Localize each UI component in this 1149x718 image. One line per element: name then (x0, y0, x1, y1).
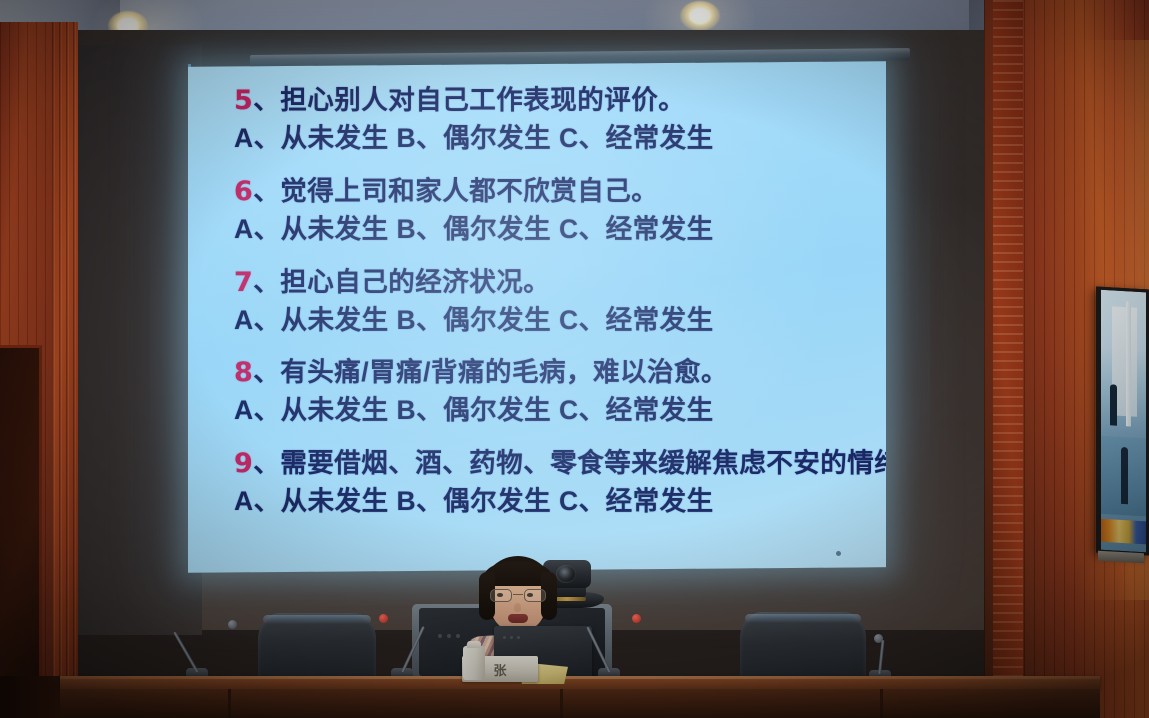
desk-panel-seam-1 (228, 689, 231, 718)
wood-panel-left-trim (52, 22, 78, 718)
answer-options-5: A、从未发生 B、偶尔发生 C、经常发生 (234, 124, 876, 153)
mic-head-center-left (379, 614, 388, 623)
desk-edge-highlight (60, 676, 1100, 679)
desk-left-shadow (0, 676, 62, 718)
front-wall-left-section (72, 45, 202, 635)
eyeglass-lens-right (524, 589, 546, 602)
question-sep-9: 、 (253, 448, 280, 478)
mic-arm-left (173, 631, 199, 672)
question-number-7: 7 (234, 267, 253, 298)
question-sep-8: 、 (253, 357, 280, 387)
question-line-6: 6、觉得上司和家人都不欣赏自己。 (234, 177, 876, 206)
question-block-7: 7、担心自己的经济状况。 A、从未发生 B、偶尔发生 C、经常发生 (234, 268, 876, 335)
nameplate-text: 张 (493, 660, 506, 679)
question-text-8: 有头痛/胃痛/背痛的毛病，难以治愈。 (280, 357, 728, 387)
question-text-5: 担心别人对自己工作表现的评价。 (280, 85, 685, 115)
feed-figure-1 (1110, 384, 1117, 426)
mic-head-left (228, 620, 237, 629)
question-block-9: 9、需要借烟、酒、药物、零食等来缓解焦虑不安的情绪。 A、从未发生 B、偶尔发生… (234, 449, 876, 516)
chair-left (258, 613, 376, 680)
question-number-9: 9 (234, 448, 253, 479)
answer-options-9: A、从未发生 B、偶尔发生 C、经常发生 (234, 487, 876, 516)
question-text-9: 需要借烟、酒、药物、零食等来缓解焦虑不安的情绪。 (280, 448, 886, 478)
question-block-6: 6、觉得上司和家人都不欣赏自己。 A、从未发生 B、偶尔发生 C、经常发生 (234, 177, 876, 244)
mic-head-center-right (632, 614, 641, 623)
projection-screen: 5、担心别人对自己工作表现的评价。 A、从未发生 B、偶尔发生 C、经常发生 6… (188, 61, 886, 572)
podium-desk-front (60, 689, 1100, 718)
feed-figure-2 (1121, 447, 1128, 505)
question-block-5: 5、担心别人对自己工作表现的评价。 A、从未发生 B、偶尔发生 C、经常发生 (234, 86, 876, 153)
eyeglass-lens-left (490, 589, 512, 602)
desk-panel-seam-3 (880, 689, 883, 718)
question-line-5: 5、担心别人对自己工作表现的评价。 (234, 86, 876, 115)
question-number-8: 8 (234, 357, 253, 388)
lecture-hall-scene: 5、担心别人对自己工作表现的评价。 A、从未发生 B、偶尔发生 C、经常发生 6… (0, 0, 1149, 718)
question-line-7: 7、担心自己的经济状况。 (234, 268, 876, 297)
coffee-cup (463, 646, 485, 680)
downlight-center (680, 1, 720, 31)
question-sep-7: 、 (253, 267, 280, 297)
eyeglass-bridge (513, 594, 523, 595)
answer-options-6: A、从未发生 B、偶尔发生 C、经常发生 (234, 215, 876, 244)
display-video-feed (1101, 290, 1146, 553)
feed-column (1126, 302, 1131, 427)
question-line-8: 8、有头痛/胃痛/背痛的毛病，难以治愈。 (234, 358, 876, 387)
desk-panel-seam-2 (560, 689, 563, 718)
mic-head-right (874, 634, 883, 643)
slide-content: 5、担心别人对自己工作表现的评价。 A、从未发生 B、偶尔发生 C、经常发生 6… (234, 86, 876, 540)
question-sep-6: 、 (253, 176, 280, 206)
chair-right (740, 612, 866, 680)
answer-options-7: A、从未发生 B、偶尔发生 C、经常发生 (234, 306, 876, 335)
question-number-6: 6 (234, 176, 253, 207)
monitor-indicator-dots (438, 634, 462, 638)
question-sep-5: 、 (253, 85, 280, 115)
coffee-cup-lid (467, 641, 481, 648)
wood-panel-right-seam (993, 0, 1023, 718)
laptop-ports (503, 636, 521, 639)
presenter-mouth (508, 614, 528, 623)
question-line-9: 9、需要借烟、酒、药物、零食等来缓解焦虑不安的情绪。 (234, 449, 876, 478)
question-block-8: 8、有头痛/胃痛/背痛的毛病，难以治愈。 A、从未发生 B、偶尔发生 C、经常发… (234, 358, 876, 425)
answer-options-8: A、从未发生 B、偶尔发生 C、经常发生 (234, 396, 876, 425)
screen-dust-speck (836, 551, 841, 556)
presenter-nose (514, 603, 521, 612)
question-number-5: 5 (234, 85, 253, 116)
bulb-glow-center (689, 8, 711, 25)
wall-mounted-display[interactable] (1096, 287, 1149, 556)
feed-lower-banner (1101, 519, 1146, 545)
question-text-6: 觉得上司和家人都不欣赏自己。 (280, 176, 658, 206)
eyeglasses-icon (490, 589, 546, 602)
question-text-7: 担心自己的经济状况。 (280, 267, 550, 297)
wall-recess-left (0, 345, 42, 718)
